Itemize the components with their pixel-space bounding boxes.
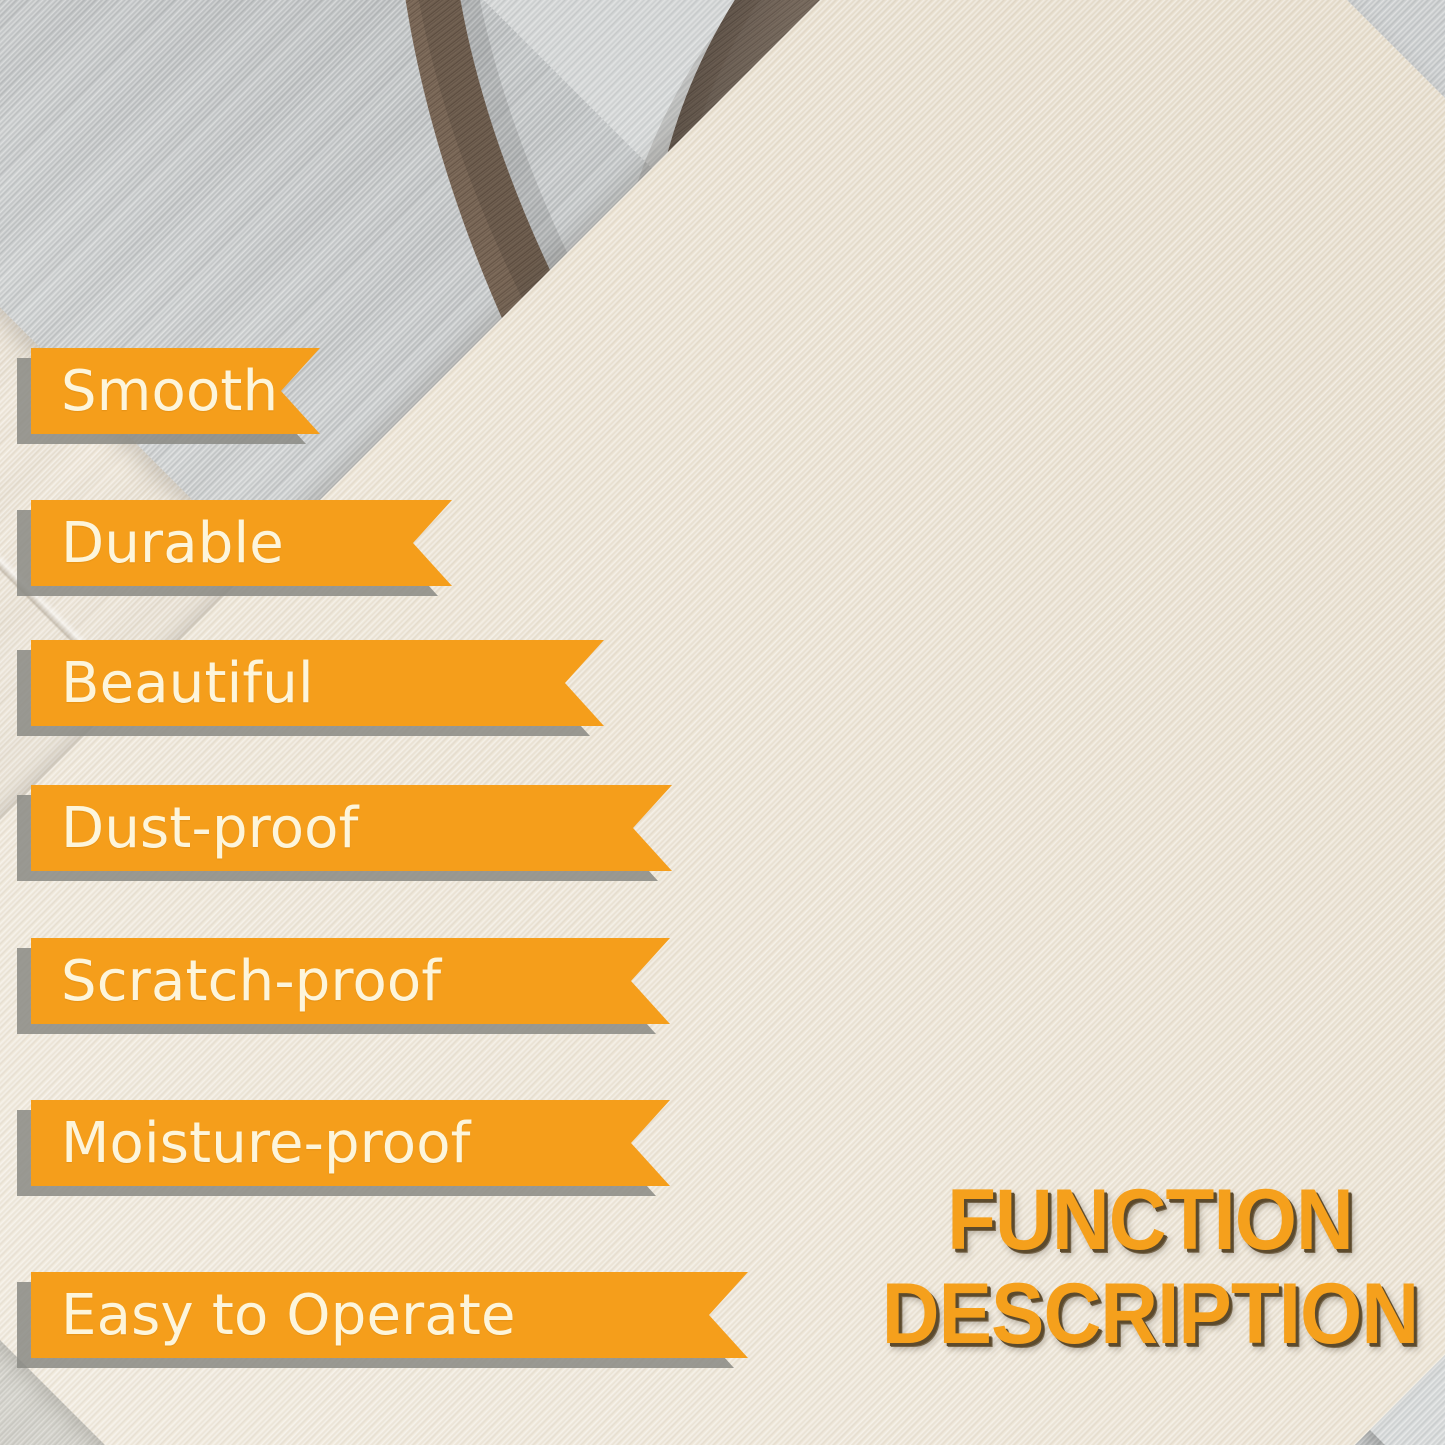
feature-label: Smooth (61, 348, 278, 434)
feature-label: Easy to Operate (61, 1272, 516, 1358)
feature-banner[interactable]: Scratch-proof (17, 938, 687, 1024)
feature-banner[interactable]: Beautiful (17, 640, 621, 726)
feature-banner[interactable]: Moisture-proof (17, 1100, 687, 1186)
function-description-heading: FUNCTION DESCRIPTION (855, 1178, 1445, 1357)
feature-label: Dust-proof (61, 785, 359, 871)
feature-banner[interactable]: Dust-proof (17, 785, 689, 871)
feature-banner[interactable]: Smooth (17, 348, 337, 434)
feature-banner[interactable]: Durable (17, 500, 469, 586)
feature-label: Durable (61, 500, 284, 586)
feature-banner[interactable]: Easy to Operate (17, 1272, 765, 1358)
feature-label: Scratch-proof (61, 938, 441, 1024)
feature-banner-list: Smooth Durable Beautiful Dust-proof (0, 0, 900, 1445)
product-infographic: Smooth Durable Beautiful Dust-proof (0, 0, 1445, 1445)
heading-line-description: DESCRIPTION (876, 1272, 1425, 1356)
feature-label: Beautiful (61, 640, 314, 726)
heading-line-function: FUNCTION (876, 1178, 1425, 1262)
feature-label: Moisture-proof (61, 1100, 471, 1186)
